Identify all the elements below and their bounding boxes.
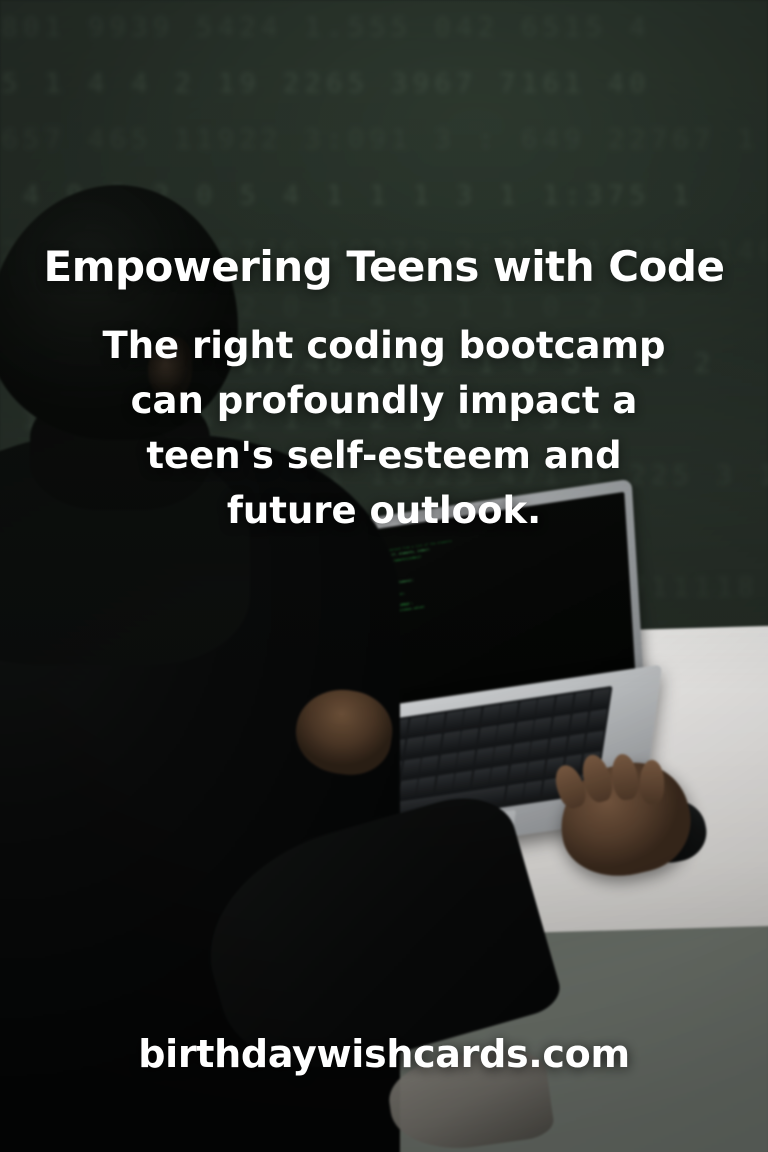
pinterest-quote-card: 4801 9939 5424 1.555 042 6515 4 05 1 4 4… <box>0 0 768 1152</box>
page-title: Empowering Teens with Code <box>0 242 768 291</box>
text-overlay: Empowering Teens with Code The right cod… <box>0 0 768 1152</box>
brand-watermark: birthdaywishcards.com <box>0 1032 768 1076</box>
subtitle: The right coding bootcamp can profoundly… <box>0 318 768 538</box>
